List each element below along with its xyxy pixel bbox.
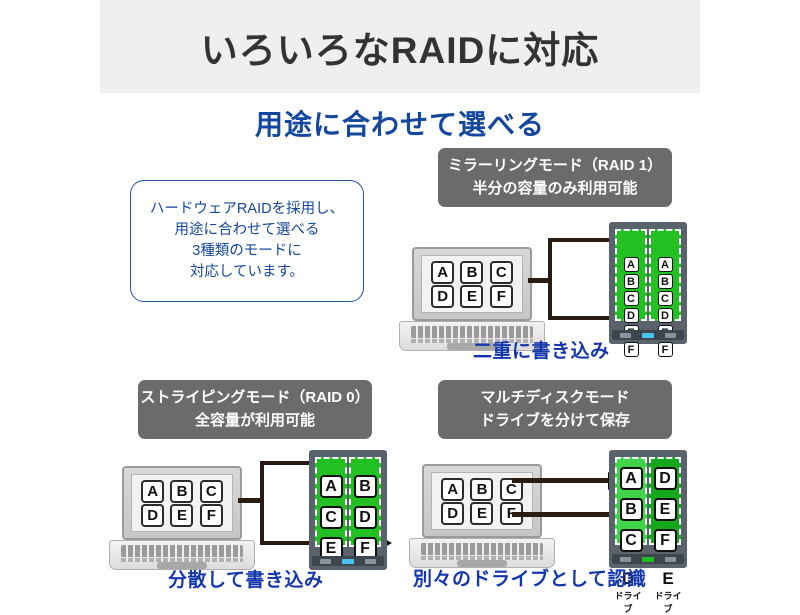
tower-led xyxy=(320,559,331,564)
drive-tower-multi: A B C D E F xyxy=(609,450,687,568)
data-tile: F xyxy=(200,504,223,527)
drive-bay-left: A B C D E F xyxy=(615,229,647,321)
tower-foot xyxy=(612,330,684,340)
bay-letter: B xyxy=(354,475,377,498)
data-tile: A xyxy=(141,480,164,503)
drive-bay-right: B D F xyxy=(349,457,381,547)
tower-led-active xyxy=(342,559,354,564)
tower-led xyxy=(665,557,676,562)
laptop-screen: A B C D E F xyxy=(421,255,523,313)
bay-letter: A xyxy=(624,257,639,272)
drive-bay-left: A C E xyxy=(315,457,347,547)
bay-letter: F xyxy=(658,342,673,357)
note-line-2: 用途に合わせて選べる xyxy=(175,220,320,241)
bay-letter: F xyxy=(654,529,677,552)
data-tile: B xyxy=(470,478,493,501)
bay-letter: E xyxy=(654,498,677,521)
laptop-keyboard xyxy=(421,543,542,555)
laptop-data-tiles: A B C D E F xyxy=(422,256,522,312)
connector-top-multi xyxy=(512,478,612,483)
drive-bay-left: A B C xyxy=(615,457,647,545)
data-tile: D xyxy=(441,502,464,525)
drive-bay-right: A B C D E F xyxy=(649,229,681,321)
connector-split-raid1 xyxy=(548,238,614,320)
bay-letter: F xyxy=(624,342,639,357)
caption-raid1: 二重に書き込み xyxy=(473,336,610,363)
drive-suffix: ドライブ xyxy=(652,589,684,615)
mode-multi-line-2: ドライブを分けて保存 xyxy=(480,410,630,433)
mode-raid0-line-2: 全容量が利用可能 xyxy=(195,410,315,433)
data-tile: D xyxy=(431,285,454,308)
bay-letter: A xyxy=(320,475,343,498)
drive-label-e: E ドライブ xyxy=(652,570,684,615)
mode-label-raid1: ミラーリングモード（RAID 1） 半分の容量のみ利用可能 xyxy=(438,148,672,207)
intro-note-box: ハードウェアRAIDを採用し、 用途に合わせて選べる 3種類のモードに 対応して… xyxy=(130,180,364,302)
connector-stub-raid0 xyxy=(238,498,262,503)
infographic-canvas: いろいろなRAIDに対応 用途に合わせて選べる ハードウェアRAIDを採用し、 … xyxy=(0,0,800,600)
mode-label-raid0: ストライピングモード（RAID 0） 全容量が利用可能 xyxy=(138,380,372,439)
data-tile: E xyxy=(170,504,193,527)
laptop-lid: A B C D E F xyxy=(122,466,242,540)
mode-multi-line-1: マルチディスクモード xyxy=(481,387,630,410)
laptop-screen: A B C D E F xyxy=(131,474,233,532)
bay-letter: D xyxy=(654,467,677,490)
bay-letter: C xyxy=(624,291,639,306)
mode-raid1-line-1: ミラーリングモード（RAID 1） xyxy=(448,155,662,178)
tower-led xyxy=(620,333,631,338)
laptop-raid0: A B C D E F xyxy=(122,466,242,570)
data-tile: E xyxy=(470,502,493,525)
data-tile: B xyxy=(460,261,483,284)
drive-letter: E xyxy=(652,570,684,589)
drive-tower-raid1: A B C D E F A B C D E F xyxy=(609,222,687,344)
data-tile: A xyxy=(431,261,454,284)
bay-letter: D xyxy=(354,506,377,529)
bay-letter: C xyxy=(620,529,643,552)
bay-letter: D xyxy=(658,308,673,323)
bay-letter: D xyxy=(624,308,639,323)
data-tile: B xyxy=(170,480,193,503)
mode-raid1-line-2: 半分の容量のみ利用可能 xyxy=(472,178,637,201)
tower-led xyxy=(665,333,676,338)
tower-led-active xyxy=(642,557,654,562)
connector-stub-raid1 xyxy=(528,278,550,283)
tower-led xyxy=(365,559,376,564)
mode-label-multi: マルチディスクモード ドライブを分けて保存 xyxy=(438,380,672,439)
bay-letter: C xyxy=(320,506,343,529)
tower-foot xyxy=(612,554,684,564)
laptop-data-tiles: A B C D E F xyxy=(132,475,232,531)
drive-tower-raid0: A C E B D F xyxy=(309,450,387,570)
note-line-4: 対応しています。 xyxy=(190,262,304,283)
mode-raid0-line-1: ストライピングモード（RAID 0） xyxy=(140,387,369,410)
note-line-3: 3種類のモードに xyxy=(192,241,302,262)
tower-led xyxy=(620,557,631,562)
note-line-1: ハードウェアRAIDを採用し、 xyxy=(150,199,344,220)
drive-suffix: ドライブ xyxy=(612,589,644,615)
bay-letter: B xyxy=(620,498,643,521)
laptop-lid: A B C D E F xyxy=(412,247,532,321)
bay-letter: A xyxy=(620,467,643,490)
bay-letter: B xyxy=(658,274,673,289)
drive-bay-right: D E F xyxy=(649,457,681,545)
data-tile: C xyxy=(200,480,223,503)
data-tile: C xyxy=(490,261,513,284)
bay-letter: C xyxy=(658,291,673,306)
subtitle: 用途に合わせて選べる xyxy=(0,103,800,143)
laptop-keyboard xyxy=(121,545,242,557)
page-title: いろいろなRAIDに対応 xyxy=(100,0,700,93)
data-tile: D xyxy=(141,504,164,527)
bay-letter: B xyxy=(624,274,639,289)
data-tile: F xyxy=(490,285,513,308)
data-tile: A xyxy=(441,478,464,501)
caption-raid0: 分散して書き込み xyxy=(168,565,323,592)
caption-multi: 別々のドライブとして認識 xyxy=(413,564,646,591)
bay-letter: A xyxy=(658,257,673,272)
tower-led-active xyxy=(642,333,654,338)
laptop-lid: A B C D E F xyxy=(422,464,542,538)
data-tile: E xyxy=(460,285,483,308)
